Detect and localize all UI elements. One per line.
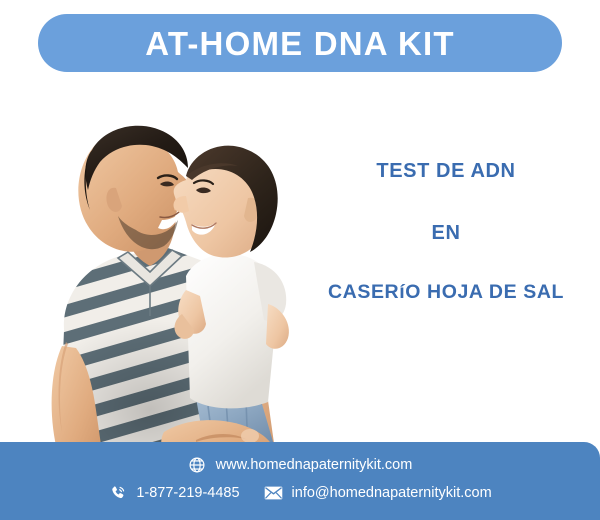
headline-line-3: CASERíO HOJA DE SAL: [296, 282, 596, 303]
phone-label: 1-877-219-4485: [136, 486, 239, 501]
promo-card: AT-HOME DNA KIT: [0, 0, 600, 520]
website-link[interactable]: www.homednapaternitykit.com: [188, 456, 413, 475]
headline-line-1: TEST DE ADN: [296, 160, 596, 182]
headline-block: TEST DE ADN EN CASERíO HOJA DE SAL: [296, 160, 596, 303]
footer-row-website: www.homednapaternitykit.com: [0, 451, 600, 479]
website-label: www.homednapaternitykit.com: [216, 458, 413, 473]
envelope-icon: [264, 484, 283, 503]
page-title: AT-HOME DNA KIT: [145, 27, 454, 60]
headline-line-2: EN: [296, 222, 596, 244]
globe-icon: [188, 456, 207, 475]
phone-link[interactable]: 1-877-219-4485: [108, 484, 239, 503]
header-banner: AT-HOME DNA KIT: [38, 14, 562, 72]
phone-icon: [108, 484, 127, 503]
email-label: info@homednapaternitykit.com: [292, 486, 492, 501]
footer-row-phone-email: 1-877-219-4485 info@homednapaternitykit.…: [0, 479, 600, 507]
footer-contact-bar: www.homednapaternitykit.com 1-877-219-44…: [0, 442, 600, 520]
father-holding-toddler-photo: [0, 80, 330, 480]
email-link[interactable]: info@homednapaternitykit.com: [264, 484, 492, 503]
